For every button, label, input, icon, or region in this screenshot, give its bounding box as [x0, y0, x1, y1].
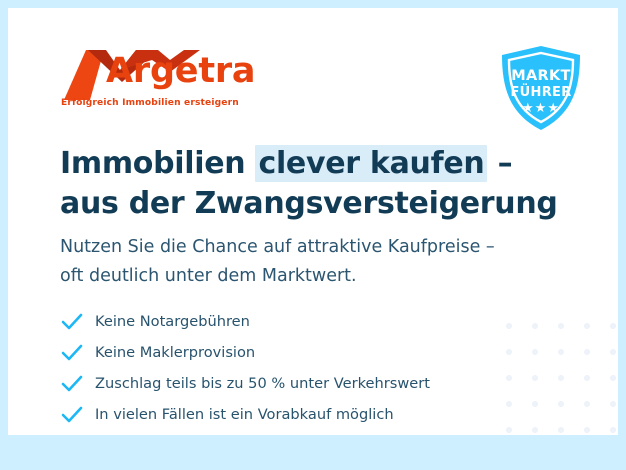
check-icon — [60, 341, 84, 365]
list-item: In vielen Fällen ist ein Vorabkauf mögli… — [60, 399, 430, 430]
argetra-logo[interactable]: Argetra Erfolgreich Immobilien ersteiger… — [60, 48, 240, 114]
check-icon — [60, 403, 84, 427]
list-item: Zuschlag teils bis zu 50 % unter Verkehr… — [60, 368, 430, 399]
badge-line2: FÜHRER — [498, 85, 584, 100]
list-item: Keine Notargebühren — [60, 306, 430, 337]
market-leader-badge: MARKT FÜHRER ★★★ — [498, 44, 584, 132]
badge-line1: MARKT — [498, 68, 584, 84]
list-item-label: In vielen Fällen ist ein Vorabkauf mögli… — [95, 406, 394, 423]
logo-wordmark: Argetra — [106, 51, 255, 91]
subheading: Nutzen Sie die Chance auf attraktive Kau… — [60, 233, 495, 291]
page-title: Immobilien clever kaufen – aus der Zwang… — [60, 144, 558, 224]
dot-pattern-decoration — [488, 305, 618, 435]
headline-line-2: aus der Zwangsversteigerung — [60, 184, 558, 224]
check-icon — [60, 372, 84, 396]
list-item-label: Keine Maklerprovision — [95, 344, 255, 361]
logo-tagline: Erfolgreich Immobilien ersteigern — [61, 98, 239, 108]
headline-text-after: – — [487, 146, 512, 181]
subheading-line-1: Nutzen Sie die Chance auf attraktive Kau… — [60, 233, 495, 262]
headline-highlight: clever kaufen — [255, 145, 487, 182]
badge-stars: ★★★ — [498, 100, 584, 116]
list-item-label: Zuschlag teils bis zu 50 % unter Verkehr… — [95, 375, 430, 392]
benefits-checklist: Keine Notargebühren Keine Maklerprovisio… — [60, 306, 430, 430]
subheading-line-2: oft deutlich unter dem Marktwert. — [60, 262, 495, 291]
check-icon — [60, 310, 84, 334]
headline-line-1: Immobilien clever kaufen – — [60, 144, 558, 184]
headline-text-before: Immobilien — [60, 146, 255, 181]
list-item: Keine Maklerprovision — [60, 337, 430, 368]
promo-card: Argetra Erfolgreich Immobilien ersteiger… — [8, 8, 618, 435]
list-item-label: Keine Notargebühren — [95, 313, 250, 330]
